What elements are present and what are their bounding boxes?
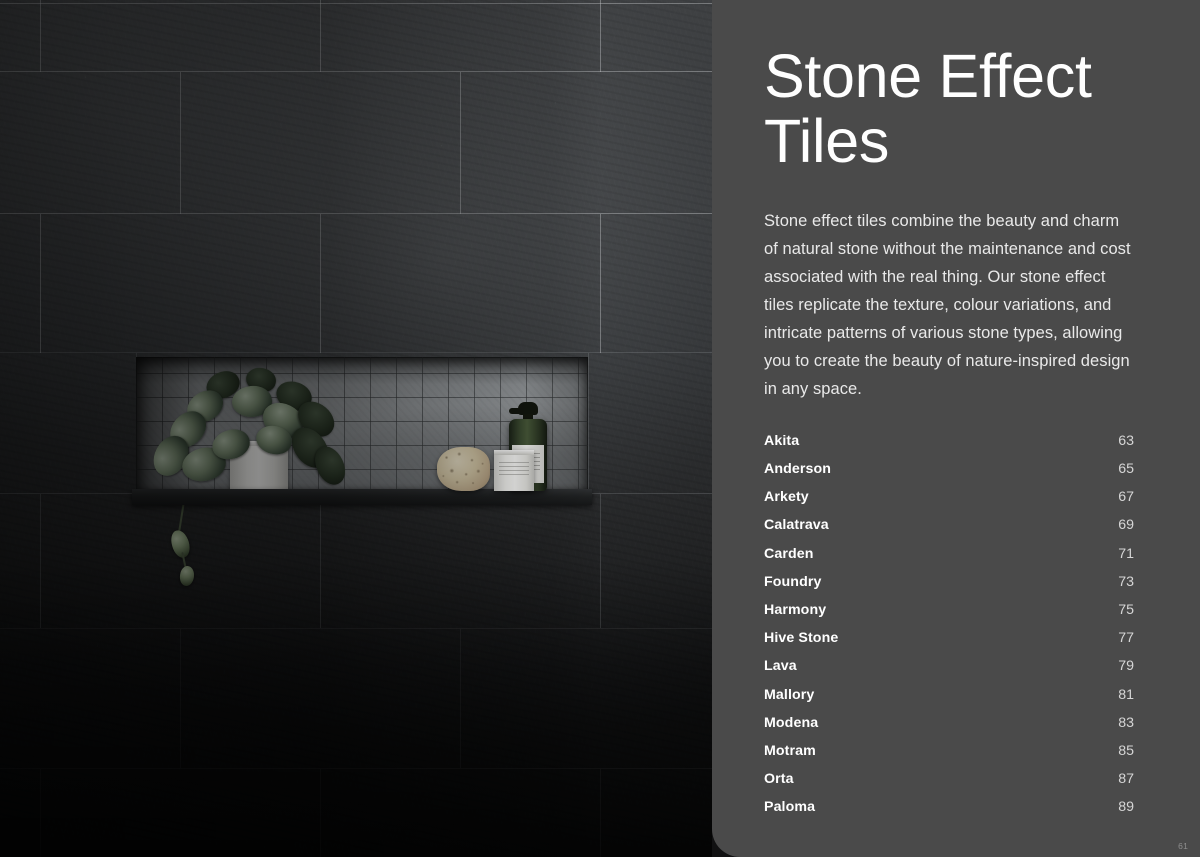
toc-entry[interactable]: Modena83 [764,715,1134,743]
toc-entry-name: Arkety [764,489,809,505]
toc-entry[interactable]: Arkety67 [764,489,1134,517]
panel-content: Stone Effect Tiles Stone effect tiles co… [764,0,1134,857]
toc-entry-page: 83 [1112,715,1134,731]
toc-entry-page: 73 [1112,574,1134,590]
toc-entry-name: Harmony [764,602,826,618]
grout-line-vertical [600,4,601,72]
toc-entry-name: Hive Stone [764,630,838,646]
toc-entry-page: 69 [1112,517,1134,533]
toc-entry-page: 77 [1112,630,1134,646]
toc-entry-name: Mallory [764,687,814,703]
toc-entry-page: 75 [1112,602,1134,618]
toc-entry[interactable]: Anderson65 [764,461,1134,489]
toc-entry-name: Paloma [764,799,815,815]
hero-photo [0,0,712,857]
toc-entry-name: Foundry [764,574,821,590]
toc-entry-page: 67 [1112,489,1134,505]
toc-entry-page: 87 [1112,771,1134,787]
toc-entry[interactable]: Harmony75 [764,602,1134,630]
toc-entry[interactable]: Carden71 [764,546,1134,574]
toc-entry-page: 81 [1112,687,1134,703]
toc-entry-page: 65 [1112,461,1134,477]
toc-entry[interactable]: Calatrava69 [764,517,1134,545]
intro-paragraph: Stone effect tiles combine the beauty an… [764,175,1134,403]
catalogue-page: Stone Effect Tiles Stone effect tiles co… [0,0,1200,857]
toc-entry[interactable]: Motram85 [764,743,1134,771]
toc-entry[interactable]: Hive Stone77 [764,630,1134,658]
toc-entry-name: Carden [764,546,813,562]
content-panel: Stone Effect Tiles Stone effect tiles co… [712,0,1200,857]
toc-entry[interactable]: Orta87 [764,771,1134,799]
toc-entry[interactable]: Akita63 [764,433,1134,461]
page-number: 61 [1178,841,1188,851]
photo-bottom-shadow [0,557,712,857]
grout-line-vertical [600,214,601,353]
table-of-contents: Akita63Anderson65Arkety67Calatrava69Card… [764,403,1134,828]
toc-entry-name: Akita [764,433,799,449]
toc-entry-page: 79 [1112,658,1134,674]
toc-entry-page: 85 [1112,743,1134,759]
toc-entry-page: 89 [1112,799,1134,815]
toc-entry[interactable]: Paloma89 [764,799,1134,827]
toc-entry-name: Lava [764,658,797,674]
toc-entry-page: 63 [1112,433,1134,449]
toc-entry[interactable]: Lava79 [764,658,1134,686]
toc-entry-name: Orta [764,771,794,787]
toc-entry-name: Motram [764,743,816,759]
toc-entry-name: Calatrava [764,517,829,533]
toc-entry[interactable]: Mallory81 [764,687,1134,715]
toc-entry[interactable]: Foundry73 [764,574,1134,602]
toc-entry-page: 71 [1112,546,1134,562]
toc-entry-name: Modena [764,715,818,731]
toc-entry-name: Anderson [764,461,831,477]
page-title: Stone Effect Tiles [764,0,1134,175]
